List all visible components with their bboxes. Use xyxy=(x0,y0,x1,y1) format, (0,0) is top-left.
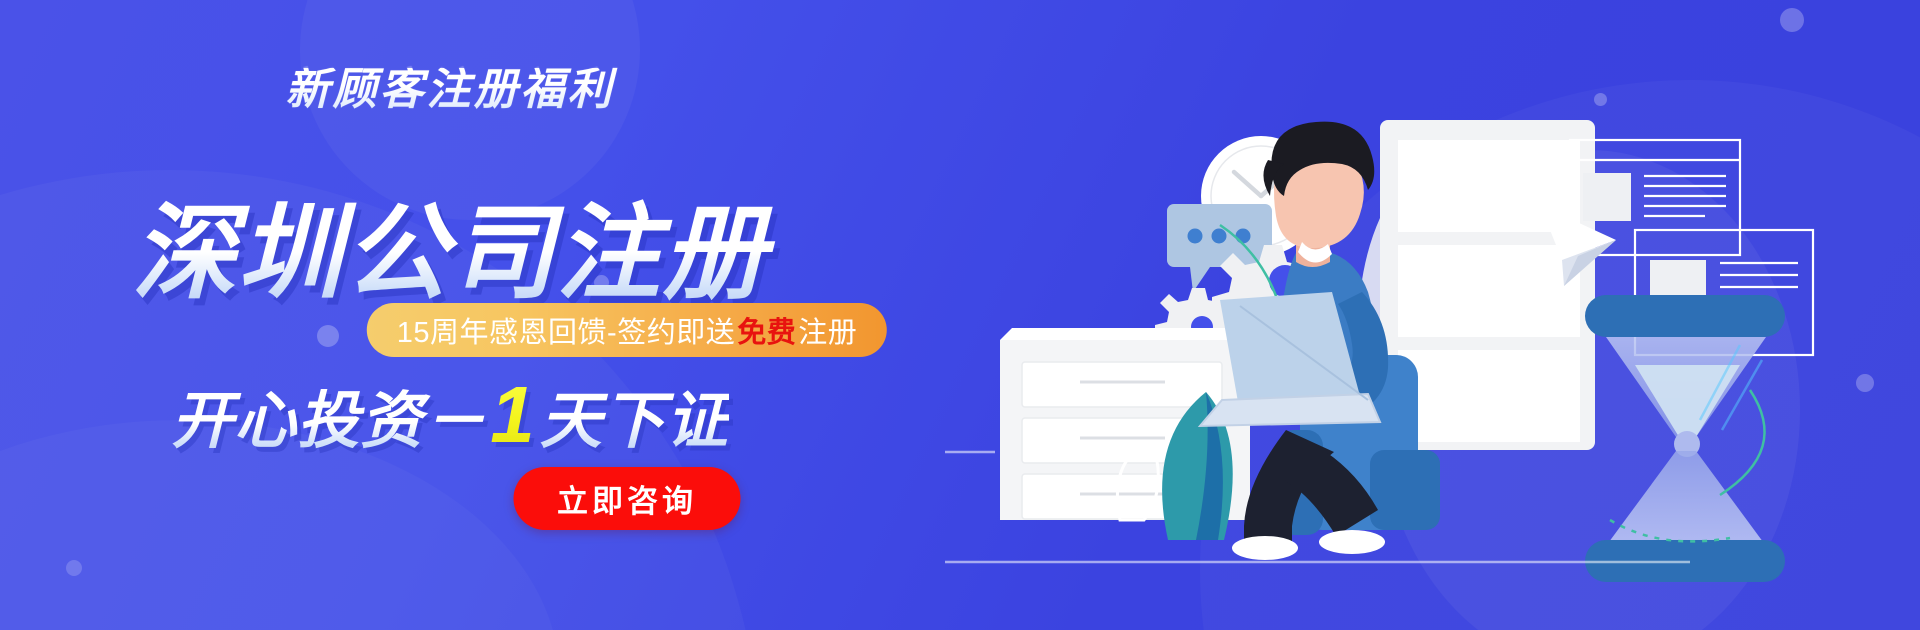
eyebrow-text: 新顾客注册福利 xyxy=(0,68,900,112)
tagline-lead: 开心投资－ xyxy=(171,387,486,456)
hero-illustration xyxy=(1050,100,1850,570)
tagline: 开心投资－1天下证 xyxy=(0,375,900,455)
decorative-dot-icon xyxy=(1856,374,1874,392)
decorative-dot-icon xyxy=(1780,8,1804,32)
promo-banner: 新顾客注册福利 深圳公司注册 15周年感恩回馈-签约即送免费注册 开心投资－1天… xyxy=(0,0,1920,630)
page-title: 深圳公司注册 xyxy=(0,195,900,315)
promo-badge-suffix: 注册 xyxy=(798,309,857,351)
promo-badge-highlight: 免费 xyxy=(735,309,798,351)
consult-now-button[interactable]: 立即咨询 xyxy=(514,467,741,530)
promo-badge: 15周年感恩回馈-签约即送免费注册 xyxy=(367,303,887,357)
banner-copy: 新顾客注册福利 深圳公司注册 15周年感恩回馈-签约即送免费注册 开心投资－1天… xyxy=(0,0,960,630)
document-card-back-content xyxy=(1583,173,1726,221)
tagline-trail: 天下证 xyxy=(540,387,729,456)
promo-badge-prefix: 15周年感恩回馈-签约即送 xyxy=(397,309,735,351)
tagline-number: 1 xyxy=(486,370,540,459)
hourglass-icon xyxy=(1585,295,1785,582)
